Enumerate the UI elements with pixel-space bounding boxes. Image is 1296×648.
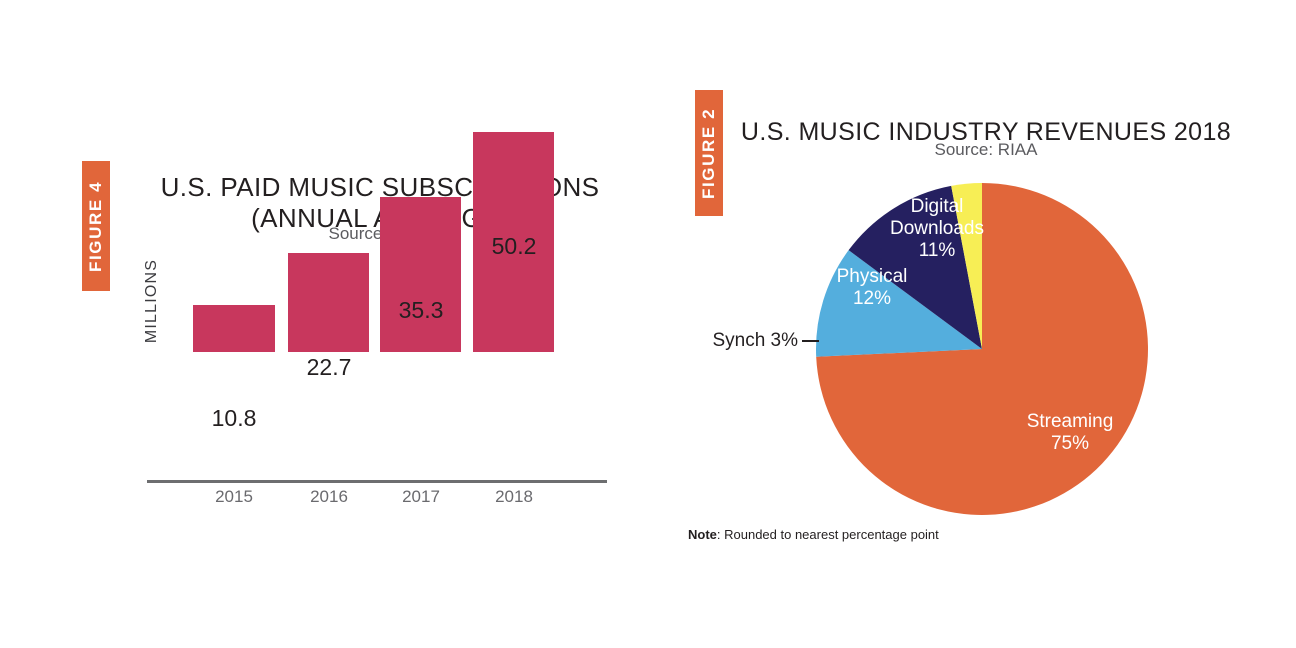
figures-canvas: FIGURE 4 U.S. PAID MUSIC SUBSCRIPTIONS (… <box>0 0 1296 648</box>
bar-category-2017: 2017 <box>371 487 471 507</box>
bar-category-2015: 2015 <box>184 487 284 507</box>
bar-2016[interactable] <box>288 253 369 353</box>
pie-chart-note-body: : Rounded to nearest percentage point <box>717 527 939 542</box>
bar-value-2016: 22.7 <box>279 354 379 380</box>
figure-2-source: Source: RIAA <box>730 140 1242 160</box>
synch-leader-line <box>802 340 819 342</box>
figure-4-panel: FIGURE 4 U.S. PAID MUSIC SUBSCRIPTIONS (… <box>0 0 660 520</box>
bar-chart-y-axis-label: MILLIONS <box>143 241 161 361</box>
bar-value-2015: 10.8 <box>184 405 284 431</box>
bar-value-2017: 35.3 <box>371 297 471 323</box>
bar-category-2016: 2016 <box>279 487 379 507</box>
pie-chart <box>816 183 1148 515</box>
pie-chart-note-prefix: Note <box>688 527 717 542</box>
bar-2017[interactable] <box>380 197 461 352</box>
bar-value-2018: 50.2 <box>464 233 564 259</box>
figure-2-badge: FIGURE 2 <box>695 90 723 216</box>
bar-category-2018: 2018 <box>464 487 564 507</box>
pie-chart-svg <box>816 183 1148 515</box>
figure-4-badge: FIGURE 4 <box>82 161 110 291</box>
bar-chart-x-axis <box>147 480 607 483</box>
pie-slice-label-synch: Synch 3% <box>700 330 798 352</box>
pie-chart-note: Note: Rounded to nearest percentage poin… <box>688 527 939 543</box>
bar-2015[interactable] <box>193 305 275 352</box>
